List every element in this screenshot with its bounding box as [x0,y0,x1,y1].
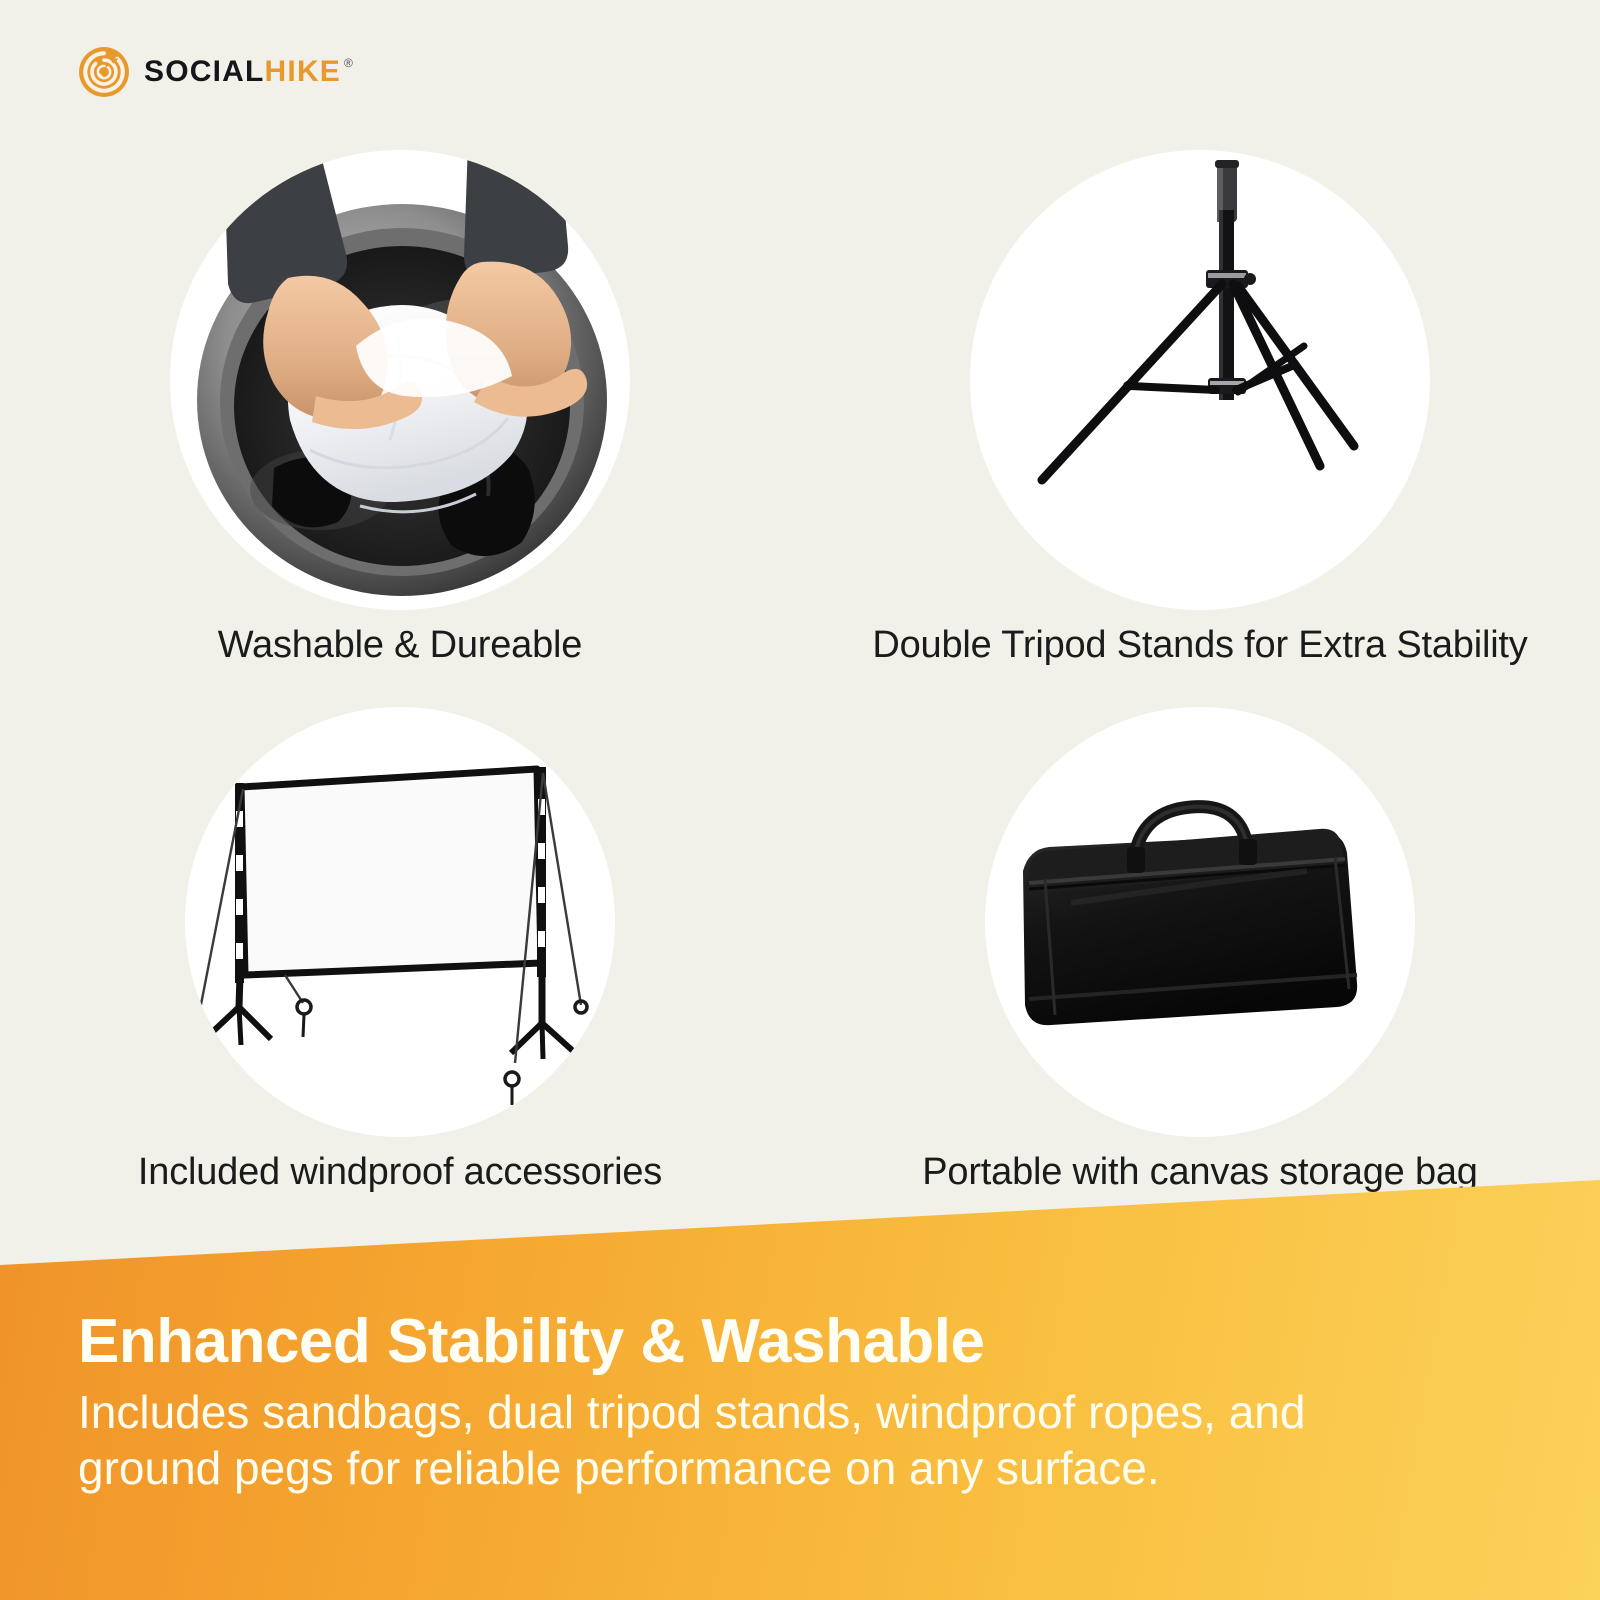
bottom-banner: Enhanced Stability & Washable Includes s… [0,1180,1600,1600]
banner-body: Includes sandbags, dual tripod stands, w… [78,1384,1408,1496]
socialhike-spiral-icon [78,46,130,98]
feature-caption-washable: Washable & Dureable [218,624,582,667]
feature-storage-bag: Portable with canvas storage bag [800,707,1600,1194]
feature-caption-double-tripod: Double Tripod Stands for Extra Stability [872,624,1527,667]
feature-windproof: Included windproof accessories [0,707,800,1194]
brand-wordmark: SOCIALHIKE® [144,55,354,89]
feature-row-1: Washable & Dureable [0,150,1600,667]
feature-caption-storage-bag: Portable with canvas storage bag [922,1151,1478,1194]
feature-image-storage-bag [985,707,1415,1137]
feature-washable: Washable & Dureable [0,150,800,667]
banner-title: Enhanced Stability & Washable [78,1306,985,1377]
feature-caption-windproof: Included windproof accessories [138,1151,662,1194]
brand-header: SOCIALHIKE® [78,46,354,98]
feature-double-tripod: Double Tripod Stands for Extra Stability [800,150,1600,667]
registered-trademark-icon: ® [344,57,354,69]
feature-image-windproof [185,707,615,1137]
feature-row-2: Included windproof accessories [0,707,1600,1194]
feature-image-washable [170,150,630,610]
brand-name-primary: SOCIAL [144,55,265,89]
brand-name-secondary: HIKE [265,55,341,89]
feature-grid: Washable & Dureable [0,150,1600,1194]
feature-image-double-tripod [970,150,1430,610]
